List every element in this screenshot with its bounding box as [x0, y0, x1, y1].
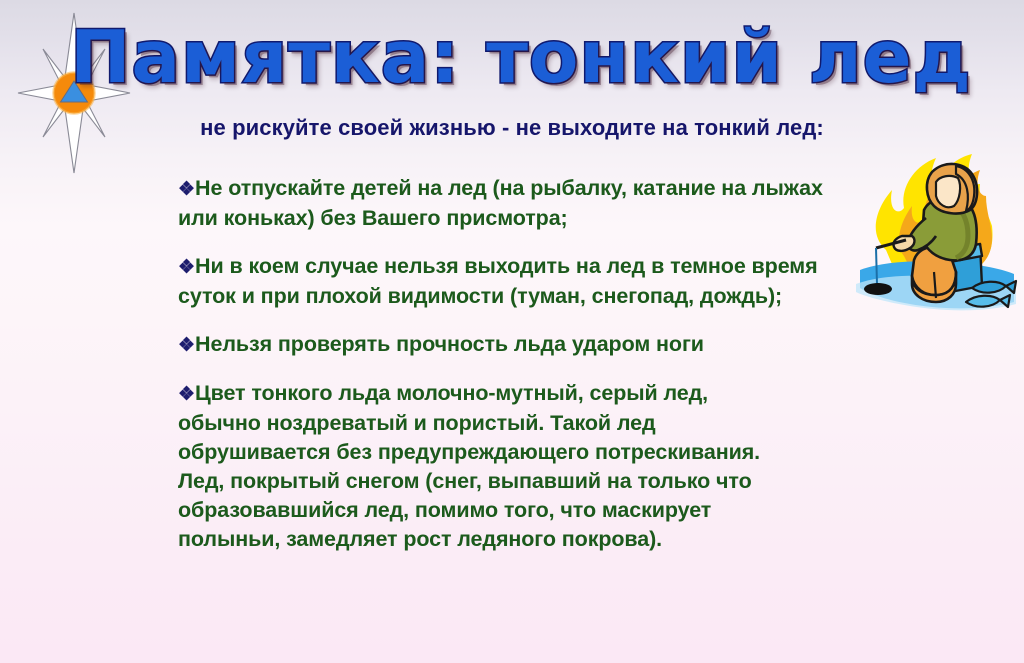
page-subtitle: не рискуйте своей жизнью - не выходите н… [178, 113, 846, 142]
list-item: ❖Цвет тонкого льда молочно-мутный, серый… [178, 379, 786, 554]
floret-bullet-icon: ❖ [178, 384, 195, 405]
list-item-text: Ни в коем случае нельзя выходить на лед … [178, 254, 818, 308]
emercom-star-emblem [14, 8, 134, 178]
safety-rules-list: ❖Не отпускайте детей на лед (на рыбалку,… [178, 174, 850, 554]
floret-bullet-icon: ❖ [178, 335, 195, 356]
page-title: Памятка: тонкий лед [52, 18, 971, 96]
poster-slide: Памятка: тонкий лед не рискуйте своей жи… [0, 0, 1024, 663]
list-item: ❖Нельзя проверять прочность льда ударом … [178, 330, 850, 360]
title-container: Памятка: тонкий лед [0, 18, 1024, 96]
list-item-text: Цвет тонкого льда молочно-мутный, серый … [178, 381, 760, 551]
list-item: ❖Не отпускайте детей на лед (на рыбалку,… [178, 174, 826, 233]
ice-fisherman-clipart [852, 152, 1020, 330]
list-item-text: Не отпускайте детей на лед (на рыбалку, … [178, 176, 823, 230]
floret-bullet-icon: ❖ [178, 179, 195, 200]
floret-bullet-icon: ❖ [178, 257, 195, 278]
list-item-text: Нельзя проверять прочность льда ударом н… [195, 332, 704, 356]
list-item: ❖Ни в коем случае нельзя выходить на лед… [178, 252, 850, 311]
